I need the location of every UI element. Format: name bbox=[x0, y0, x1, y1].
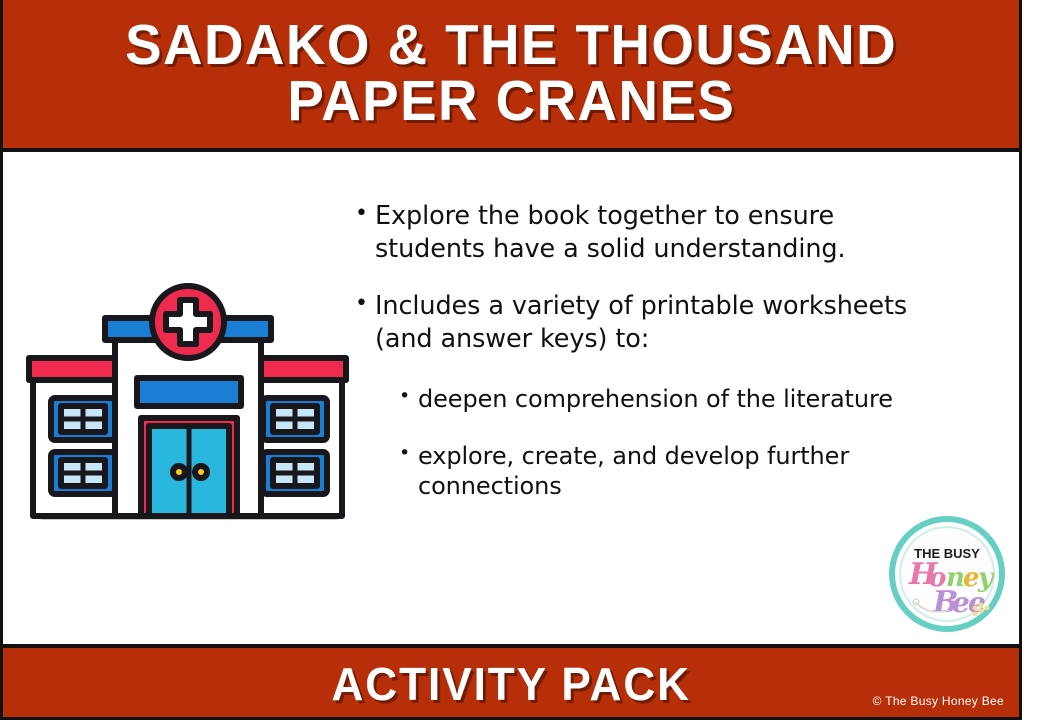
frame-outer-margin-right bbox=[1022, 0, 1040, 720]
brand-logo: THE BUSY H o n e y B e e bbox=[889, 516, 1005, 632]
activity-pack-cover-slide: SADAKO & THE THOUSAND PAPER CRANES bbox=[0, 0, 1040, 720]
feature-sub-bullet-list: • deepen comprehension of the literature… bbox=[399, 384, 999, 503]
copyright-notice: © The Busy Honey Bee bbox=[873, 694, 1004, 708]
list-item: • explore, create, and develop further c… bbox=[399, 441, 999, 503]
list-item-text: explore, create, and develop further con… bbox=[418, 441, 918, 503]
bullet-marker-icon: • bbox=[399, 384, 418, 408]
list-item-text: deepen comprehension of the literature bbox=[418, 384, 893, 415]
list-item: • deepen comprehension of the literature bbox=[399, 384, 999, 415]
list-item-text: Includes a variety of printable workshee… bbox=[375, 290, 941, 356]
frame-border-left bbox=[0, 0, 3, 720]
page-title-line-2: PAPER CRANES bbox=[287, 74, 735, 130]
bullet-marker-icon: • bbox=[355, 200, 375, 228]
main-content: • Explore the book together to ensure st… bbox=[3, 152, 1019, 644]
title-banner: SADAKO & THE THOUSAND PAPER CRANES bbox=[0, 0, 1022, 152]
hospital-illustration bbox=[15, 280, 360, 530]
footer-label: ACTIVITY PACK bbox=[331, 657, 690, 711]
feature-bullet-list: • Explore the book together to ensure st… bbox=[355, 200, 999, 528]
list-item: • Explore the book together to ensure st… bbox=[355, 200, 999, 266]
bullet-marker-icon: • bbox=[355, 290, 375, 318]
list-item: • Includes a variety of printable worksh… bbox=[355, 290, 999, 356]
footer-banner: ACTIVITY PACK bbox=[0, 644, 1022, 720]
list-item-text: Explore the book together to ensure stud… bbox=[375, 200, 941, 266]
bullet-marker-icon: • bbox=[399, 441, 418, 465]
page-title-line-1: SADAKO & THE THOUSAND bbox=[125, 18, 897, 74]
